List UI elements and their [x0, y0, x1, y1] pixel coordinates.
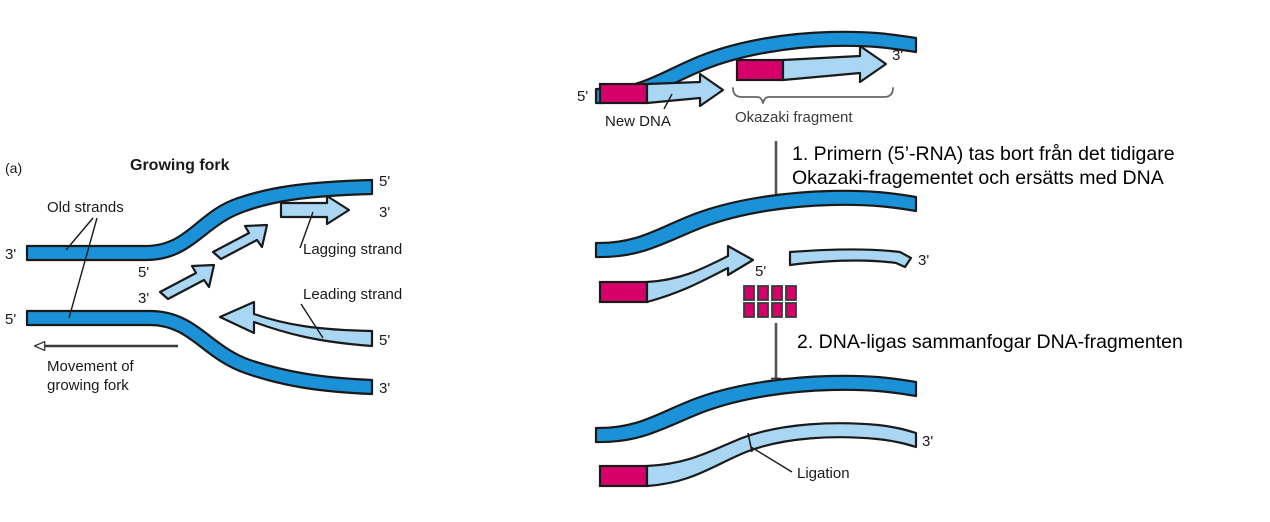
leading-strand-label: Leading strand	[303, 286, 402, 303]
panel-a-title: Growing fork	[130, 157, 230, 174]
old-strands-leader-lower	[69, 218, 97, 318]
primer-block	[786, 286, 796, 300]
left-bottom-5-label: 5'	[5, 311, 16, 328]
panel-b-step-3: Ligation 3'	[596, 376, 933, 486]
right-bottom-3-label: 3'	[379, 380, 390, 397]
leading-strand-arrow	[220, 302, 372, 346]
excised-primer-blocks	[744, 286, 796, 317]
lagging-arrow-1	[160, 265, 214, 299]
step3-primer-left	[600, 466, 647, 486]
right-leading-5-label: 5'	[379, 332, 390, 349]
step3-3prime-label: 3'	[922, 433, 933, 450]
annotation-1-line1: 1. Primern (5’-RNA) tas bort från det ti…	[792, 143, 1175, 165]
annotation-1-line2: Okazaki-fragementet och ersätts med DNA	[792, 167, 1164, 189]
right-top-5-label: 5'	[379, 173, 390, 190]
step2-5prime-label: 5'	[755, 263, 766, 280]
movement-label-line1: Movement of	[47, 358, 135, 375]
panel-a-id: (a)	[5, 160, 22, 176]
step2-template-strand	[596, 191, 916, 257]
lagging-arrow-2	[213, 225, 267, 259]
primer-block	[744, 303, 754, 317]
annotation-2-line1: 2. DNA-ligas sammanfogar DNA-fragmenten	[797, 331, 1183, 353]
step2-3prime-label: 3'	[918, 252, 929, 269]
primer-block	[772, 303, 782, 317]
step3-ligation-leader	[751, 447, 792, 472]
step1-okazaki-brace	[733, 88, 893, 103]
step1-okazaki-label: Okazaki fragment	[735, 109, 853, 126]
step3-ligation-label: Ligation	[797, 465, 850, 482]
step2-extended-arrow	[647, 246, 753, 302]
primer-block	[758, 303, 768, 317]
fork-lower-3-label: 3'	[138, 290, 149, 307]
panel-a-growing-fork: (a) Growing fork Old strands 5' 3' 3' 5'…	[5, 157, 402, 397]
primer-block	[744, 286, 754, 300]
primer-block	[758, 286, 768, 300]
left-top-3-label: 3'	[5, 246, 16, 263]
step1-primer-okazaki	[737, 60, 783, 80]
old-strands-label: Old strands	[47, 199, 124, 216]
step1-new-dna-label: New DNA	[605, 113, 671, 130]
lagging-strand-label: Lagging strand	[303, 241, 402, 258]
panel-b-step-2: 5' 3'	[596, 191, 929, 388]
right-lagging-3-label: 3'	[379, 204, 390, 221]
movement-label-line2: growing fork	[47, 377, 129, 394]
step1-3prime-label: 3'	[892, 47, 903, 64]
primer-block	[772, 286, 782, 300]
fork-upper-5-label: 5'	[138, 264, 149, 281]
annotation-1: 1. Primern (5’-RNA) tas bort från det ti…	[792, 143, 1175, 189]
step2-right-fragment	[790, 249, 911, 267]
step1-5prime-label: 5'	[577, 88, 588, 105]
primer-block	[786, 303, 796, 317]
step1-okazaki-arrow	[783, 46, 886, 82]
step1-primer-left	[600, 84, 647, 103]
dna-replication-figure: (a) Growing fork Old strands 5' 3' 3' 5'…	[0, 0, 1270, 522]
step3-ligated-strand	[647, 423, 916, 486]
step2-primer-left	[600, 282, 647, 302]
annotation-2: 2. DNA-ligas sammanfogar DNA-fragmenten	[797, 331, 1183, 353]
